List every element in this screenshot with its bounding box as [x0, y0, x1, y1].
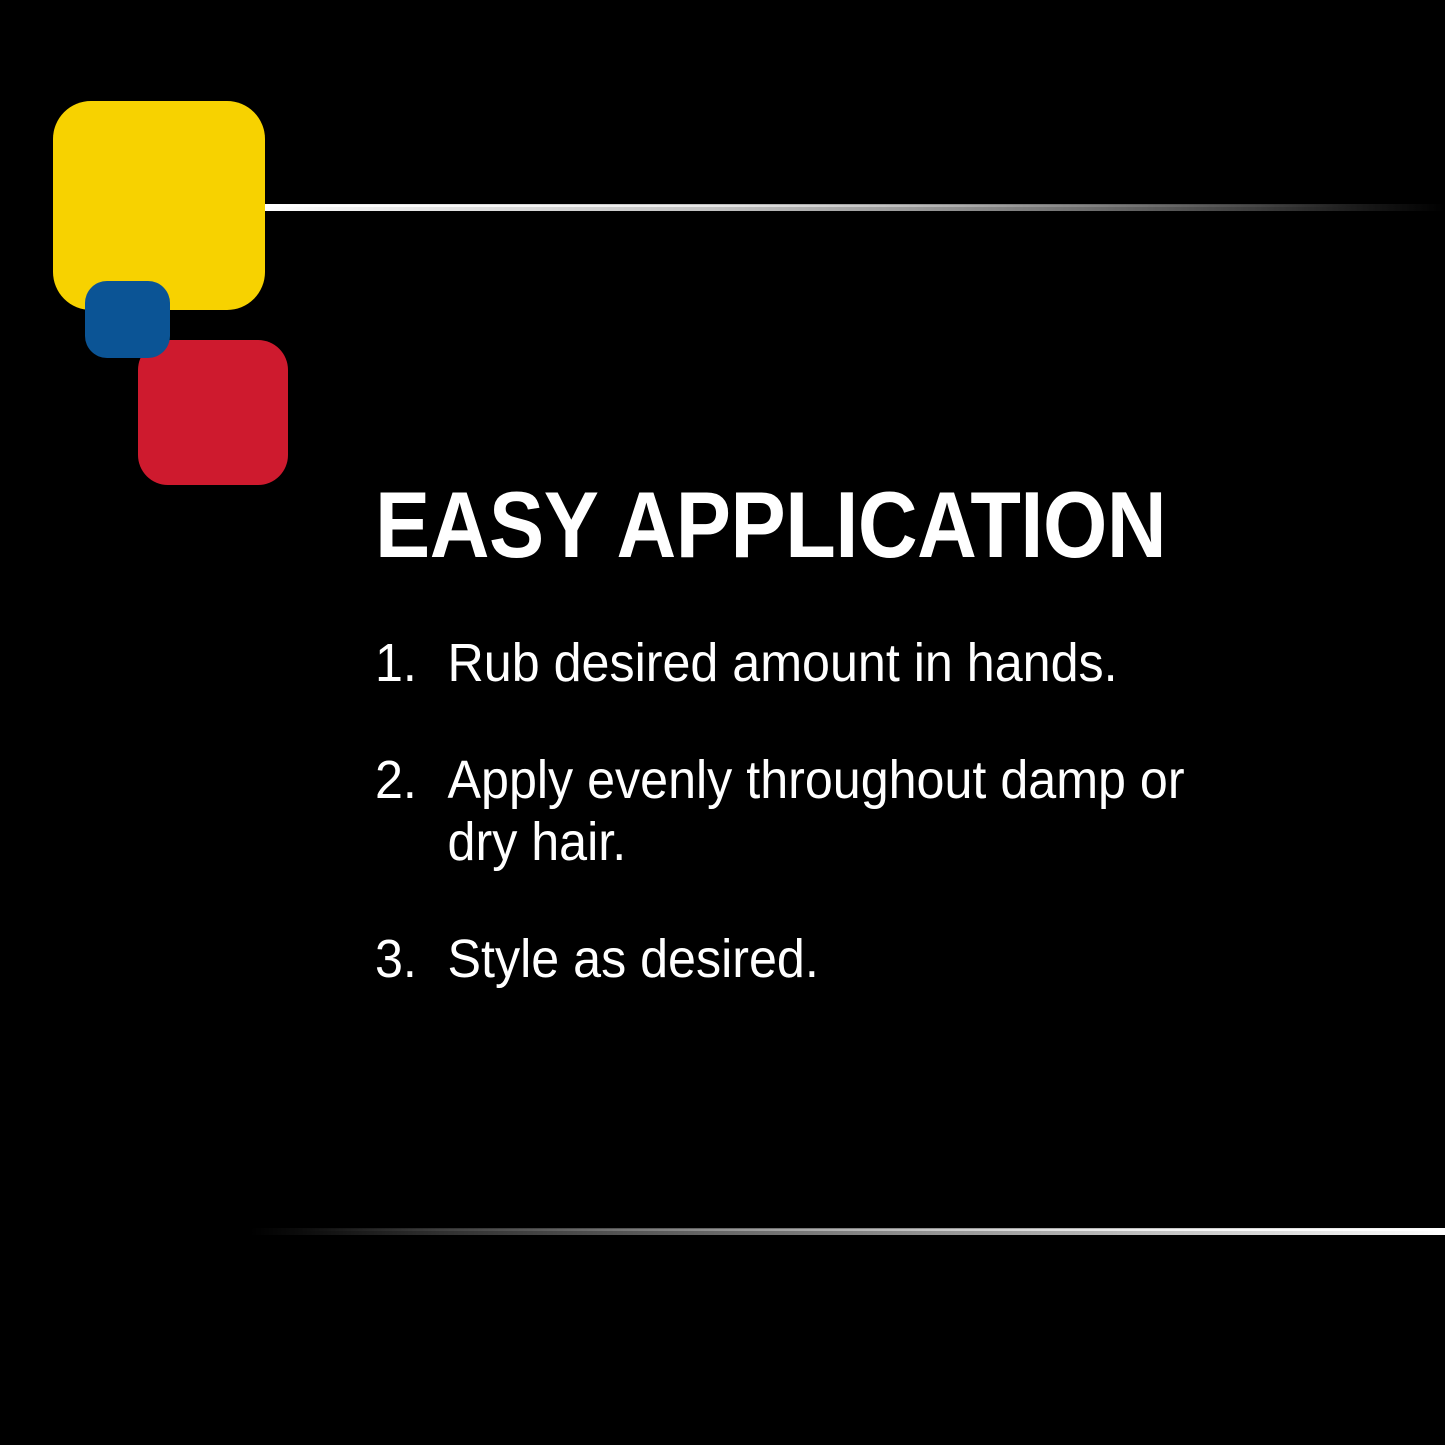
top-metallic-rule: [262, 204, 1445, 211]
blue-square-icon: [85, 281, 170, 358]
step-text: Rub desired amount in hands.: [448, 632, 1266, 695]
step-text: Apply evenly throughout damp or dry hair…: [448, 749, 1266, 874]
list-item: 2. Apply evenly throughout damp or dry h…: [375, 749, 1286, 874]
list-item: 3. Style as desired.: [375, 928, 1286, 991]
content-panel: EASY APPLICATION 1. Rub desired amount i…: [375, 480, 1355, 991]
page-title: EASY APPLICATION: [375, 480, 1237, 570]
product-feature-card: EASY APPLICATION 1. Rub desired amount i…: [0, 0, 1445, 1445]
brand-logo: [0, 0, 320, 520]
step-number: 2.: [375, 749, 448, 812]
step-number: 1.: [375, 632, 448, 695]
list-item: 1. Rub desired amount in hands.: [375, 632, 1286, 695]
step-number: 3.: [375, 928, 448, 991]
step-text: Style as desired.: [448, 928, 1266, 991]
yellow-square-icon: [53, 101, 265, 310]
bottom-metallic-rule: [250, 1228, 1445, 1235]
red-square-icon: [138, 340, 288, 485]
application-steps-list: 1. Rub desired amount in hands. 2. Apply…: [375, 632, 1355, 991]
